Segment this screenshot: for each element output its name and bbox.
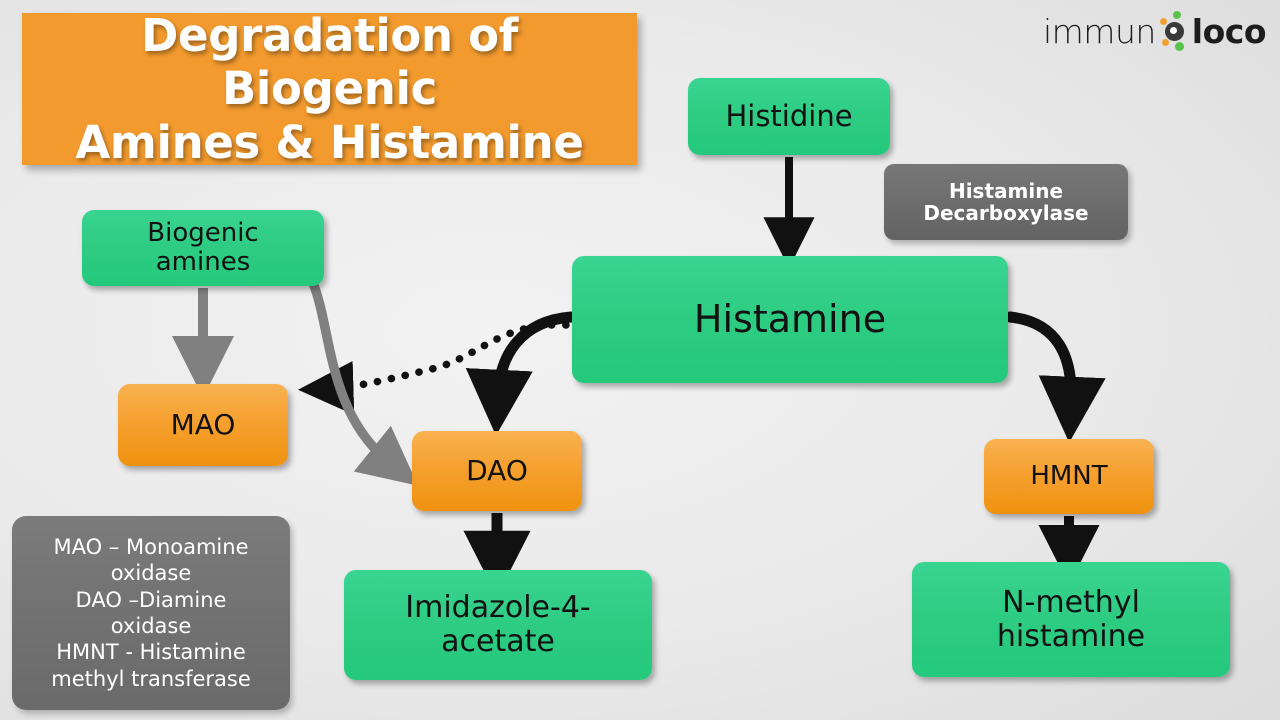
node-mao[interactable]: MAO bbox=[118, 384, 288, 466]
node-imidazole-4-acetate[interactable]: Imidazole-4- acetate bbox=[344, 570, 652, 680]
label-histamine-decarboxylase: Histamine Decarboxylase bbox=[884, 164, 1128, 240]
logo-dot-green-top bbox=[1173, 11, 1181, 19]
edge-histamine-to-mao-dotted bbox=[322, 325, 566, 389]
logo-dot-orange-bottom-left bbox=[1162, 39, 1169, 46]
logo-core-circle bbox=[1165, 22, 1184, 41]
node-biogenic-amines[interactable]: Biogenic amines bbox=[82, 210, 324, 286]
node-histamine[interactable]: Histamine bbox=[572, 256, 1008, 383]
logo-text-part1: immun bbox=[1043, 15, 1156, 48]
page-title: Degradation of Biogenic Amines & Histami… bbox=[22, 9, 637, 168]
logo-dot-green-bottom bbox=[1175, 42, 1184, 51]
abbreviation-legend: MAO – Monoamine oxidase DAO –Diamine oxi… bbox=[12, 516, 290, 710]
node-n-methyl-histamine[interactable]: N-methyl histamine bbox=[912, 562, 1230, 677]
cell-dots-logo-icon bbox=[1157, 9, 1191, 53]
slide-canvas: Degradation of Biogenic Amines & Histami… bbox=[0, 0, 1280, 720]
logo-text-part2: loco bbox=[1192, 15, 1266, 48]
legend-text: MAO – Monoamine oxidase DAO –Diamine oxi… bbox=[45, 534, 257, 693]
node-dao[interactable]: DAO bbox=[412, 431, 582, 511]
immunoloco-logo: immun loco bbox=[1043, 8, 1266, 54]
node-histidine[interactable]: Histidine bbox=[688, 78, 890, 155]
edge-histamine-to-dao bbox=[498, 317, 571, 395]
logo-dot-orange-left bbox=[1160, 18, 1167, 25]
edge-biogenic-amines-to-dao bbox=[313, 283, 390, 463]
node-hmnt[interactable]: HMNT bbox=[984, 439, 1154, 514]
edge-histamine-to-hmnt bbox=[1010, 317, 1071, 402]
slide-title-banner: Degradation of Biogenic Amines & Histami… bbox=[22, 13, 637, 165]
